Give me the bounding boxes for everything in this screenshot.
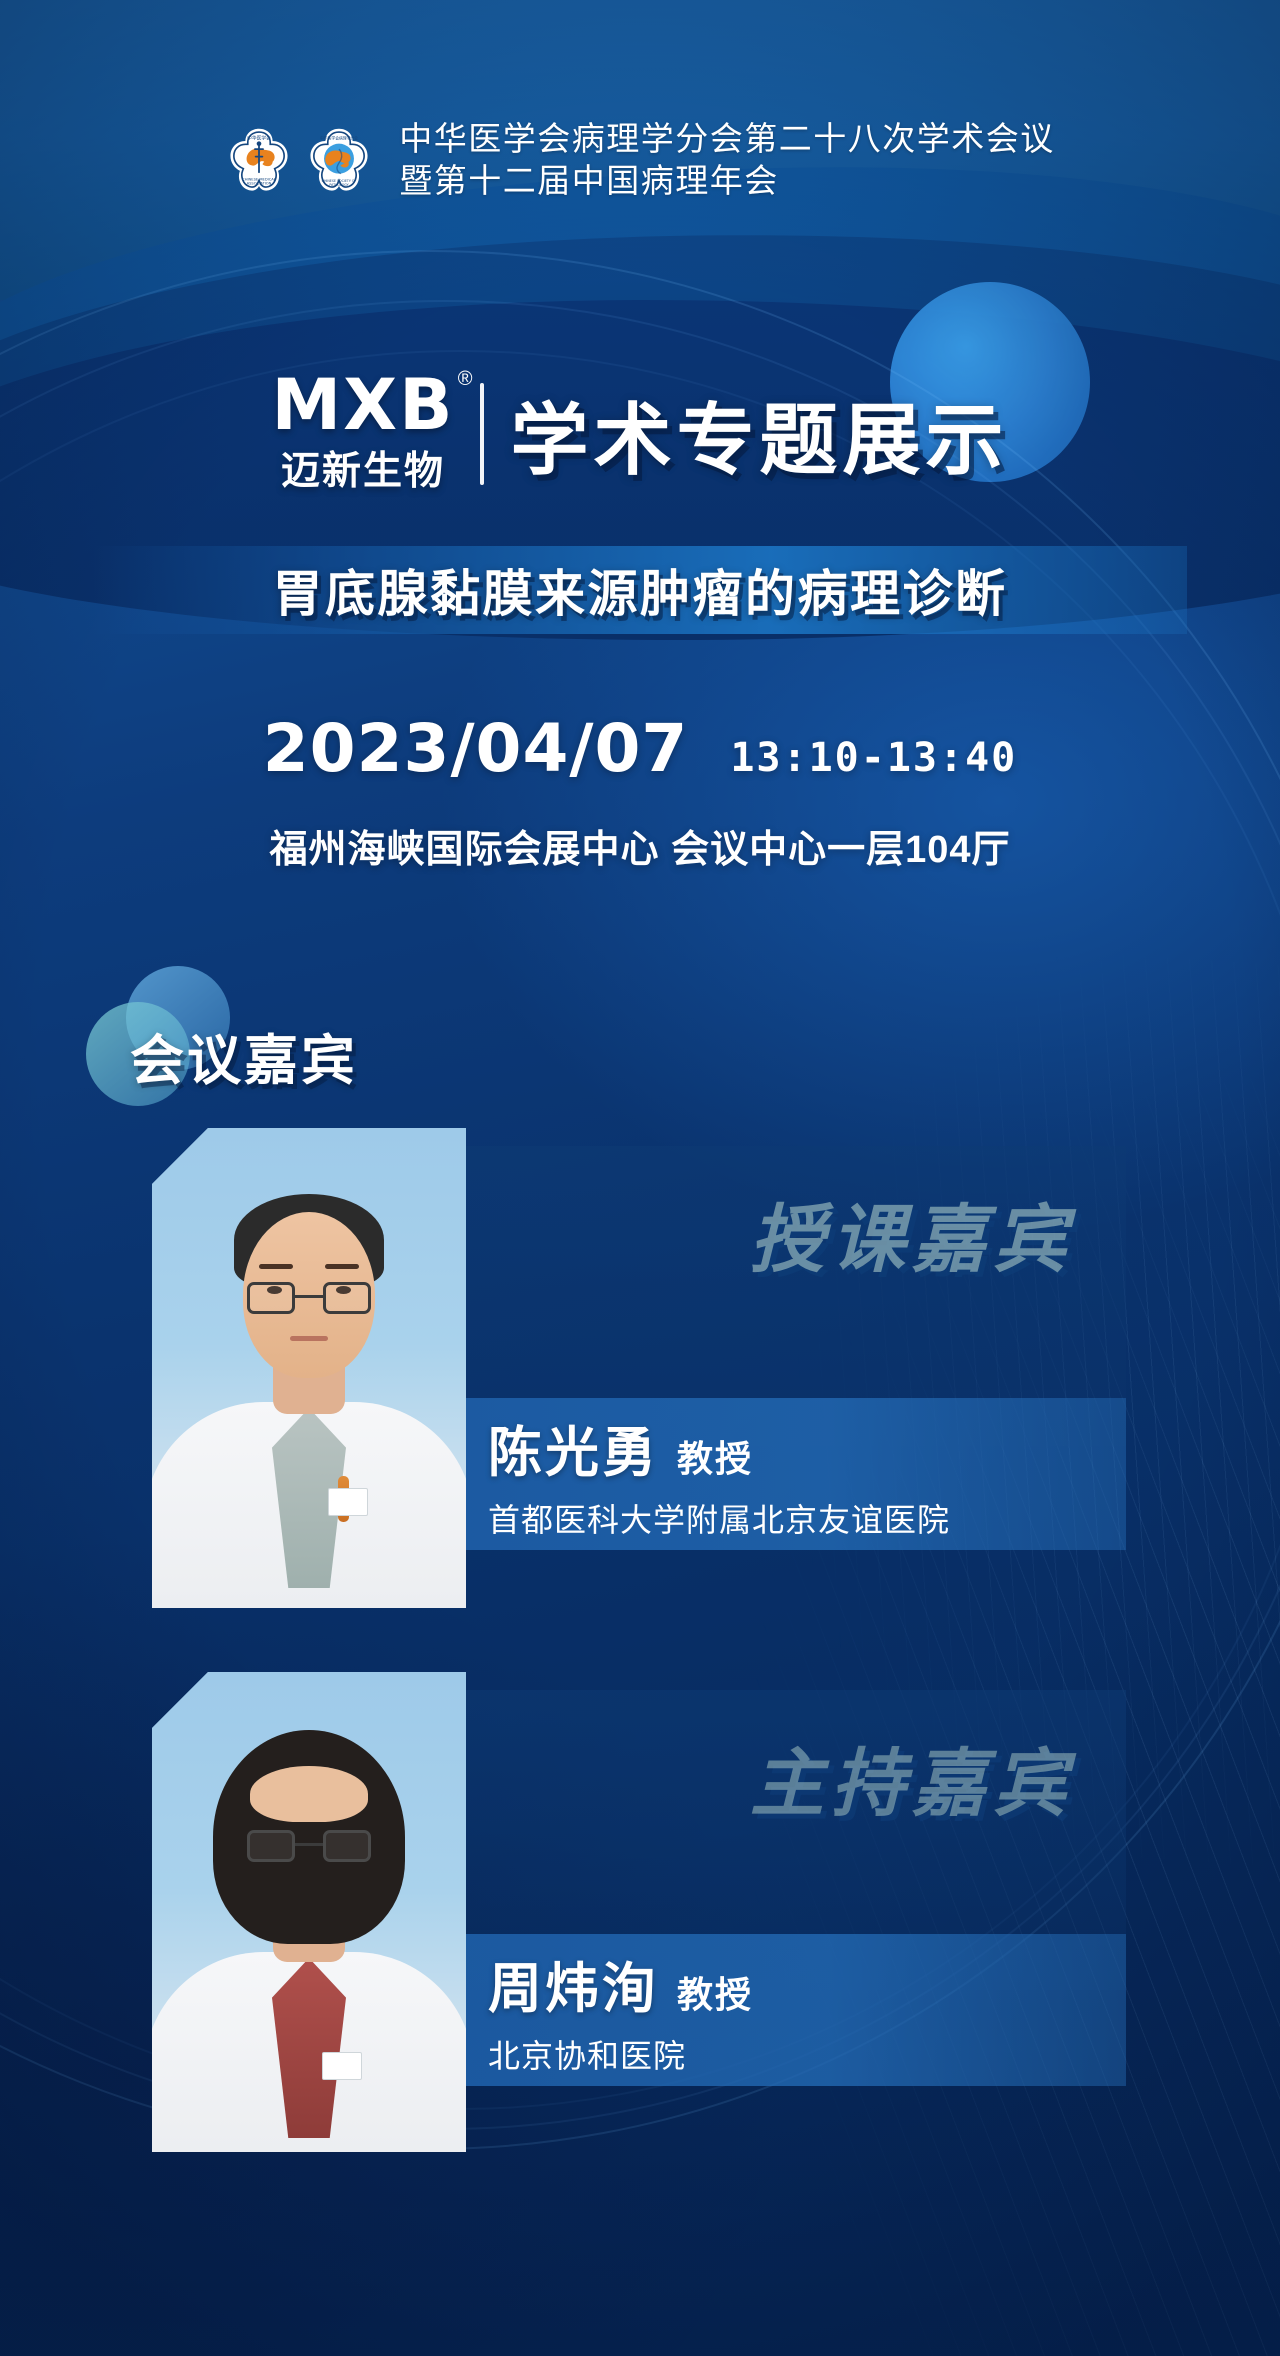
svg-text:PATHOLOGY: PATHOLOGY	[330, 183, 349, 187]
vertical-divider	[480, 383, 484, 485]
name-badge	[322, 2052, 362, 2080]
registered-trademark-icon: ®	[458, 368, 473, 391]
event-time: 13:10-13:40	[730, 735, 1017, 781]
conference-header: 中华医学会 CHINESE MEDICAL ASSOCIATION 中华医学会病…	[0, 118, 1280, 202]
speaker-1-title: 教授	[677, 1430, 753, 1482]
mxb-wordmark: MXB	[272, 372, 455, 439]
cma-emblem-icon: 中华医学会 CHINESE MEDICAL ASSOCIATION	[225, 126, 293, 194]
speaker-2-photo	[152, 1672, 466, 2152]
guests-heading-block: 会议嘉宾	[88, 966, 508, 1106]
speaker-2-affiliation: 北京协和医院	[488, 2031, 1126, 2077]
eyebrow-right	[325, 1264, 359, 1269]
lab-coat	[152, 1952, 466, 2152]
eyeglasses-icon	[247, 1830, 371, 1864]
conference-title-line2: 暨第十二届中国病理年会	[399, 160, 1055, 202]
lab-coat	[152, 1402, 466, 1608]
speaker-2-name-bar: 周炜洵 教授 北京协和医院	[466, 1934, 1126, 2086]
speaker-1-affiliation: 首都医科大学附属北京友谊医院	[488, 1495, 1126, 1541]
mxb-chinese-name: 迈新生物	[272, 440, 455, 496]
speaker-1-name: 陈光勇	[488, 1408, 659, 1487]
svg-text:中华医学会病理学分会: 中华医学会病理学分会	[320, 136, 358, 141]
svg-text:CHINESE SOCIETY OF: CHINESE SOCIETY OF	[322, 179, 357, 183]
speaker-block-2: 主持嘉宾 周炜洵 教授 北京协和医院	[0, 1672, 1280, 2192]
eyebrow-left	[259, 1264, 293, 1269]
main-title: 学术专题展示	[510, 378, 1008, 490]
speaker-2-role-text: 主持嘉宾	[750, 1724, 1074, 1831]
topic-subtitle-bar: 胃底腺黏膜来源肿瘤的病理诊断	[93, 546, 1187, 634]
conference-title-block: 中华医学会病理学分会第二十八次学术会议 暨第十二届中国病理年会	[399, 118, 1055, 202]
speaker-1-photo	[152, 1128, 466, 1608]
svg-text:CHINESE MEDICAL: CHINESE MEDICAL	[242, 178, 277, 182]
emblem-group: 中华医学会 CHINESE MEDICAL ASSOCIATION 中华医学会病…	[225, 126, 373, 194]
poster-background: 中华医学会 CHINESE MEDICAL ASSOCIATION 中华医学会病…	[0, 0, 1280, 2356]
speaker-1-name-bar: 陈光勇 教授 首都医科大学附属北京友谊医院	[466, 1398, 1126, 1550]
mouth	[290, 1336, 328, 1341]
speaker-2-name: 周炜洵	[488, 1944, 659, 2023]
brand-title-row: MXB ® 迈新生物 学术专题展示	[0, 372, 1280, 496]
event-venue: 福州海峡国际会展中心 会议中心一层104厅	[0, 818, 1280, 873]
conference-title-line1: 中华医学会病理学分会第二十八次学术会议	[399, 118, 1055, 160]
guests-heading-text: 会议嘉宾	[130, 1016, 358, 1095]
name-badge	[328, 1488, 368, 1516]
svg-text:ASSOCIATION: ASSOCIATION	[247, 182, 272, 186]
schedule-row: 2023/04/07 13:10-13:40	[0, 710, 1280, 787]
topic-subtitle-text: 胃底腺黏膜来源肿瘤的病理诊断	[273, 554, 1008, 626]
event-date: 2023/04/07	[263, 710, 689, 787]
eyeglasses-icon	[247, 1282, 371, 1316]
speaker-block-1: 授课嘉宾 陈光勇 教授 首都医科大学附属北京友谊医院	[0, 1128, 1280, 1648]
speaker-2-title: 教授	[677, 1966, 753, 2018]
mxb-logo: MXB ® 迈新生物	[272, 372, 481, 496]
speaker-1-role-text: 授课嘉宾	[750, 1180, 1074, 1287]
csp-emblem-icon: 中华医学会病理学分会 CHINESE SOCIETY OF PATHOLOGY	[305, 126, 373, 194]
